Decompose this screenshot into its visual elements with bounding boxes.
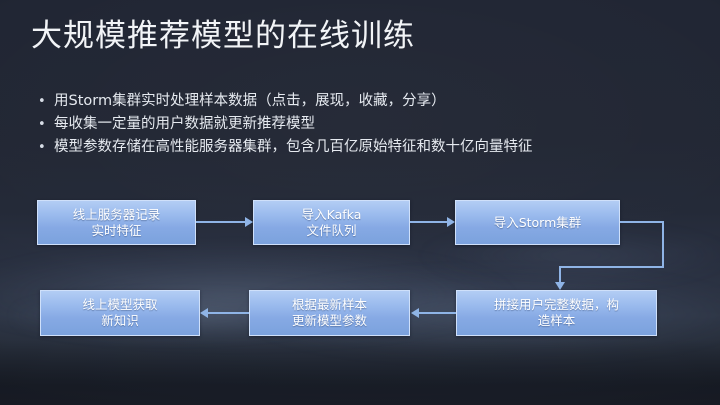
- flow-node-build-sample[interactable]: 拼接用户完整数据，构 造样本: [456, 290, 657, 336]
- flow-node-label: 根据最新样本 更新模型参数: [288, 297, 371, 329]
- slide-canvas: 大规模推荐模型的在线训练 • 用Storm集群实时处理样本数据（点击，展现，收藏…: [0, 0, 720, 405]
- flow-node-label: 导入Kafka 文件队列: [298, 207, 366, 239]
- flow-arrowhead-down-icon: [555, 282, 565, 290]
- flow-arrowhead-right-icon: [245, 217, 253, 227]
- flow-node-label: 导入Storm集群: [490, 215, 586, 231]
- flow-node-online-server-log[interactable]: 线上服务器记录 实时特征: [37, 200, 196, 245]
- flow-node-label: 线上模型获取 新知识: [78, 297, 161, 329]
- flow-connector-line: [559, 266, 664, 268]
- flow-arrowhead-left-icon: [411, 308, 419, 318]
- flow-node-import-kafka[interactable]: 导入Kafka 文件队列: [253, 200, 410, 245]
- flow-connector-line: [410, 221, 447, 223]
- flow-node-online-model-update[interactable]: 线上模型获取 新知识: [40, 290, 200, 336]
- flow-connector-line: [419, 312, 456, 314]
- flow-node-label: 线上服务器记录 实时特征: [69, 207, 165, 239]
- flow-connector-line: [196, 221, 245, 223]
- flow-connector-line: [620, 221, 664, 223]
- flow-diagram: 线上服务器记录 实时特征 导入Kafka 文件队列 导入Storm集群 拼接用户…: [0, 0, 720, 405]
- flow-arrowhead-right-icon: [447, 217, 455, 227]
- flow-node-label: 拼接用户完整数据，构 造样本: [490, 297, 623, 329]
- flow-arrowhead-left-icon: [200, 308, 208, 318]
- flow-node-import-storm[interactable]: 导入Storm集群: [455, 200, 620, 245]
- flow-connector-line: [208, 312, 249, 314]
- flow-connector-line: [662, 221, 664, 268]
- flow-node-update-model-params[interactable]: 根据最新样本 更新模型参数: [249, 290, 410, 336]
